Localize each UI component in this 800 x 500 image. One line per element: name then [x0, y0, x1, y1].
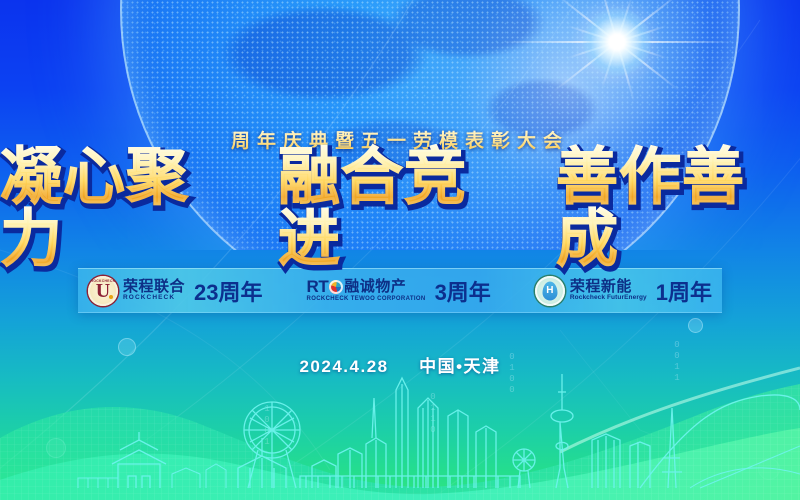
rt-mark: RT 融诚物产 — [307, 278, 426, 296]
anniversary-years: 3周年 — [435, 275, 491, 307]
anniversary-years: 1周年 — [656, 275, 712, 307]
anniversary-years: 23周年 — [194, 275, 262, 307]
rt-colorwheel-icon — [329, 280, 343, 294]
logo-name-block: 荣程新能 Rockcheck FuturEnergy — [570, 279, 647, 302]
main-title: 凝心聚力 凝心聚力 融合竞进 融合竞进 善作善成 善作善成 — [0, 170, 800, 248]
hydrogen-droplet-emblem-icon: H — [535, 276, 565, 306]
logo-unit-rockcheck-union: ROCKCHECK U 荣程联合 ROCKCHECK 23周年 — [88, 275, 263, 307]
logo-name-block: RT 融诚物产 ROCKCHECK TEWOO CORPORATION — [307, 278, 426, 302]
emblem-accent-dot — [109, 295, 113, 299]
u-monogram-emblem-icon: ROCKCHECK U — [88, 276, 118, 306]
logo-name-block: 荣程联合 ROCKCHECK — [123, 279, 185, 302]
title-segment: 善作善成 善作善成 — [556, 147, 800, 271]
title-segment: 凝心聚力 凝心聚力 — [0, 147, 244, 271]
sponsor-logo-band: ROCKCHECK U 荣程联合 ROCKCHECK 23周年 RT 融诚物产 … — [78, 268, 722, 313]
event-location: 中国•天津 — [419, 357, 500, 376]
event-poster: 0100 0011 0110 1001 — [0, 0, 800, 500]
node-circle-decoration — [688, 318, 703, 333]
flare-core — [583, 8, 651, 76]
emblem-letter: U — [96, 281, 110, 301]
event-datetime-location: 2024.4.28 中国•天津 — [0, 352, 800, 377]
logo-cn-name: 荣程新能 — [570, 279, 647, 295]
emblem-letter: H — [546, 286, 553, 296]
logo-cn-name: 荣程联合 — [123, 279, 185, 295]
logo-cn-name: 融诚物产 — [344, 279, 406, 295]
logo-unit-rockcheck-futurenergy: H 荣程新能 Rockcheck FuturEnergy 1周年 — [535, 275, 712, 307]
logo-en-name: Rockcheck FuturEnergy — [570, 295, 647, 302]
logo-en-name: ROCKCHECK TEWOO CORPORATION — [307, 296, 426, 302]
logo-en-name: ROCKCHECK — [123, 295, 185, 302]
title-segment: 融合竞进 融合竞进 — [278, 147, 522, 271]
event-date: 2024.4.28 — [299, 357, 388, 376]
logo-unit-rongcheng-tewoo: RT 融诚物产 ROCKCHECK TEWOO CORPORATION 3周年 — [307, 275, 491, 307]
rt-letters: RT — [307, 278, 329, 296]
